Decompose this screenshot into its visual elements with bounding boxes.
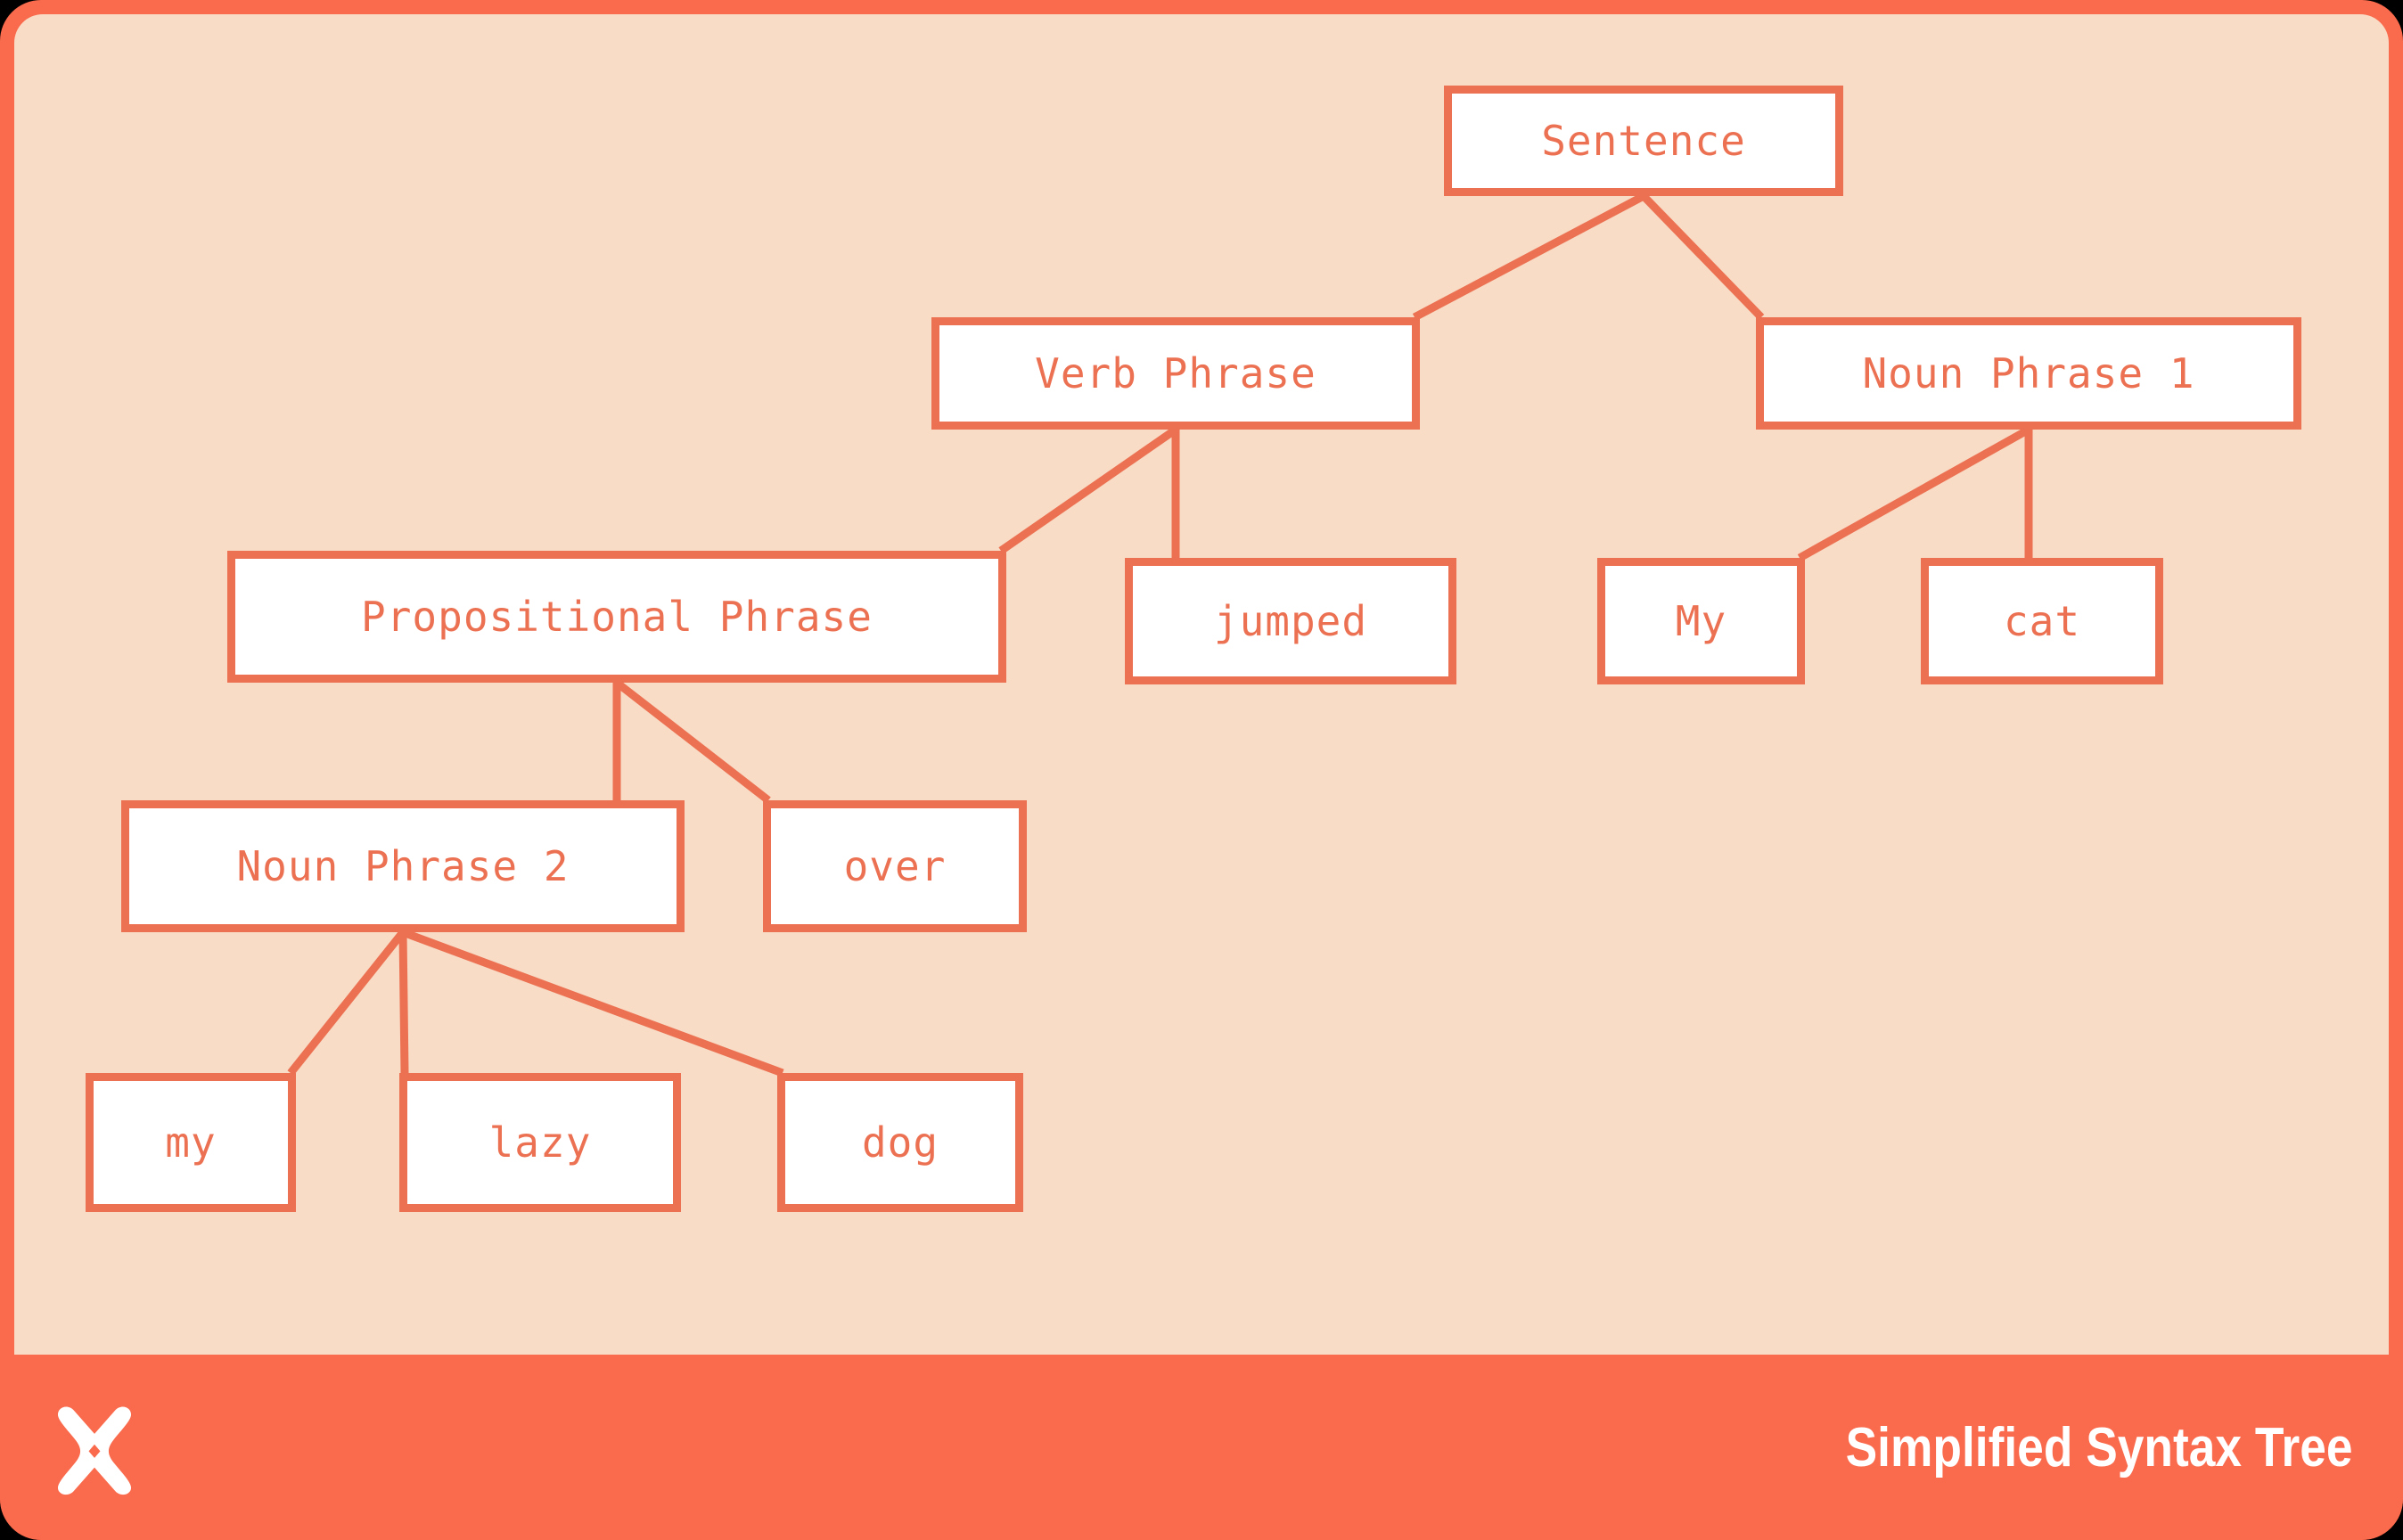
- tree-node-np2[interactable]: Noun Phrase 2: [121, 800, 685, 932]
- tree-node-label: Noun Phrase 1: [1862, 353, 2194, 394]
- tree-node-my_leaf[interactable]: my: [86, 1073, 296, 1212]
- screenshot-root: SentenceVerb PhraseNoun Phrase 1Proposit…: [0, 0, 2403, 1540]
- tree-node-lazy[interactable]: lazy: [399, 1073, 681, 1212]
- tree-node-dog[interactable]: dog: [777, 1073, 1023, 1212]
- footer-title: Simplified Syntax Tree: [1846, 1416, 2353, 1479]
- tree-node-label: dog: [862, 1122, 939, 1163]
- tree-node-label: Sentence: [1541, 120, 1746, 161]
- tree-node-cat[interactable]: cat: [1921, 558, 2163, 684]
- tree-node-np1[interactable]: Noun Phrase 1: [1756, 317, 2301, 430]
- tree-edge-np2-to-my_leaf: [291, 932, 403, 1073]
- tree-edge-np2-to-dog: [403, 932, 783, 1073]
- tree-edge-sentence-to-np1: [1644, 196, 1761, 317]
- tree-node-label: lazy: [489, 1122, 592, 1163]
- tree-node-jumped[interactable]: jumped: [1125, 558, 1456, 684]
- tree-edge-pp-to-over: [617, 683, 768, 800]
- tree-edge-np1-to-my_det: [1800, 430, 2029, 558]
- tree-node-label: my: [165, 1122, 216, 1163]
- tree-node-sentence[interactable]: Sentence: [1444, 86, 1843, 196]
- butterfly-x-logo-icon: [46, 1399, 143, 1495]
- tree-node-label: My: [1676, 601, 1726, 642]
- tree-edge-sentence-to-vp: [1415, 196, 1644, 317]
- footer-bar: Simplified Syntax Tree: [0, 1355, 2403, 1540]
- tree-node-label: over: [844, 846, 947, 887]
- syntax-tree-edges: [14, 14, 2389, 1355]
- tree-node-over[interactable]: over: [763, 800, 1027, 932]
- tree-edge-vp-to-pp: [1001, 430, 1176, 551]
- tree-node-vp[interactable]: Verb Phrase: [931, 317, 1420, 430]
- tree-edge-np2-to-lazy: [403, 932, 405, 1073]
- tree-node-label: cat: [2004, 601, 2080, 642]
- tree-node-label: jumped: [1214, 601, 1367, 642]
- tree-node-label: Propositional Phrase: [361, 596, 873, 637]
- tree-node-my_det[interactable]: My: [1597, 558, 1805, 684]
- diagram-canvas: SentenceVerb PhraseNoun Phrase 1Proposit…: [14, 14, 2389, 1355]
- tree-node-label: Verb Phrase: [1035, 353, 1316, 394]
- tree-node-label: Noun Phrase 2: [236, 846, 569, 887]
- diagram-card: SentenceVerb PhraseNoun Phrase 1Proposit…: [0, 0, 2403, 1540]
- tree-node-pp[interactable]: Propositional Phrase: [227, 551, 1006, 683]
